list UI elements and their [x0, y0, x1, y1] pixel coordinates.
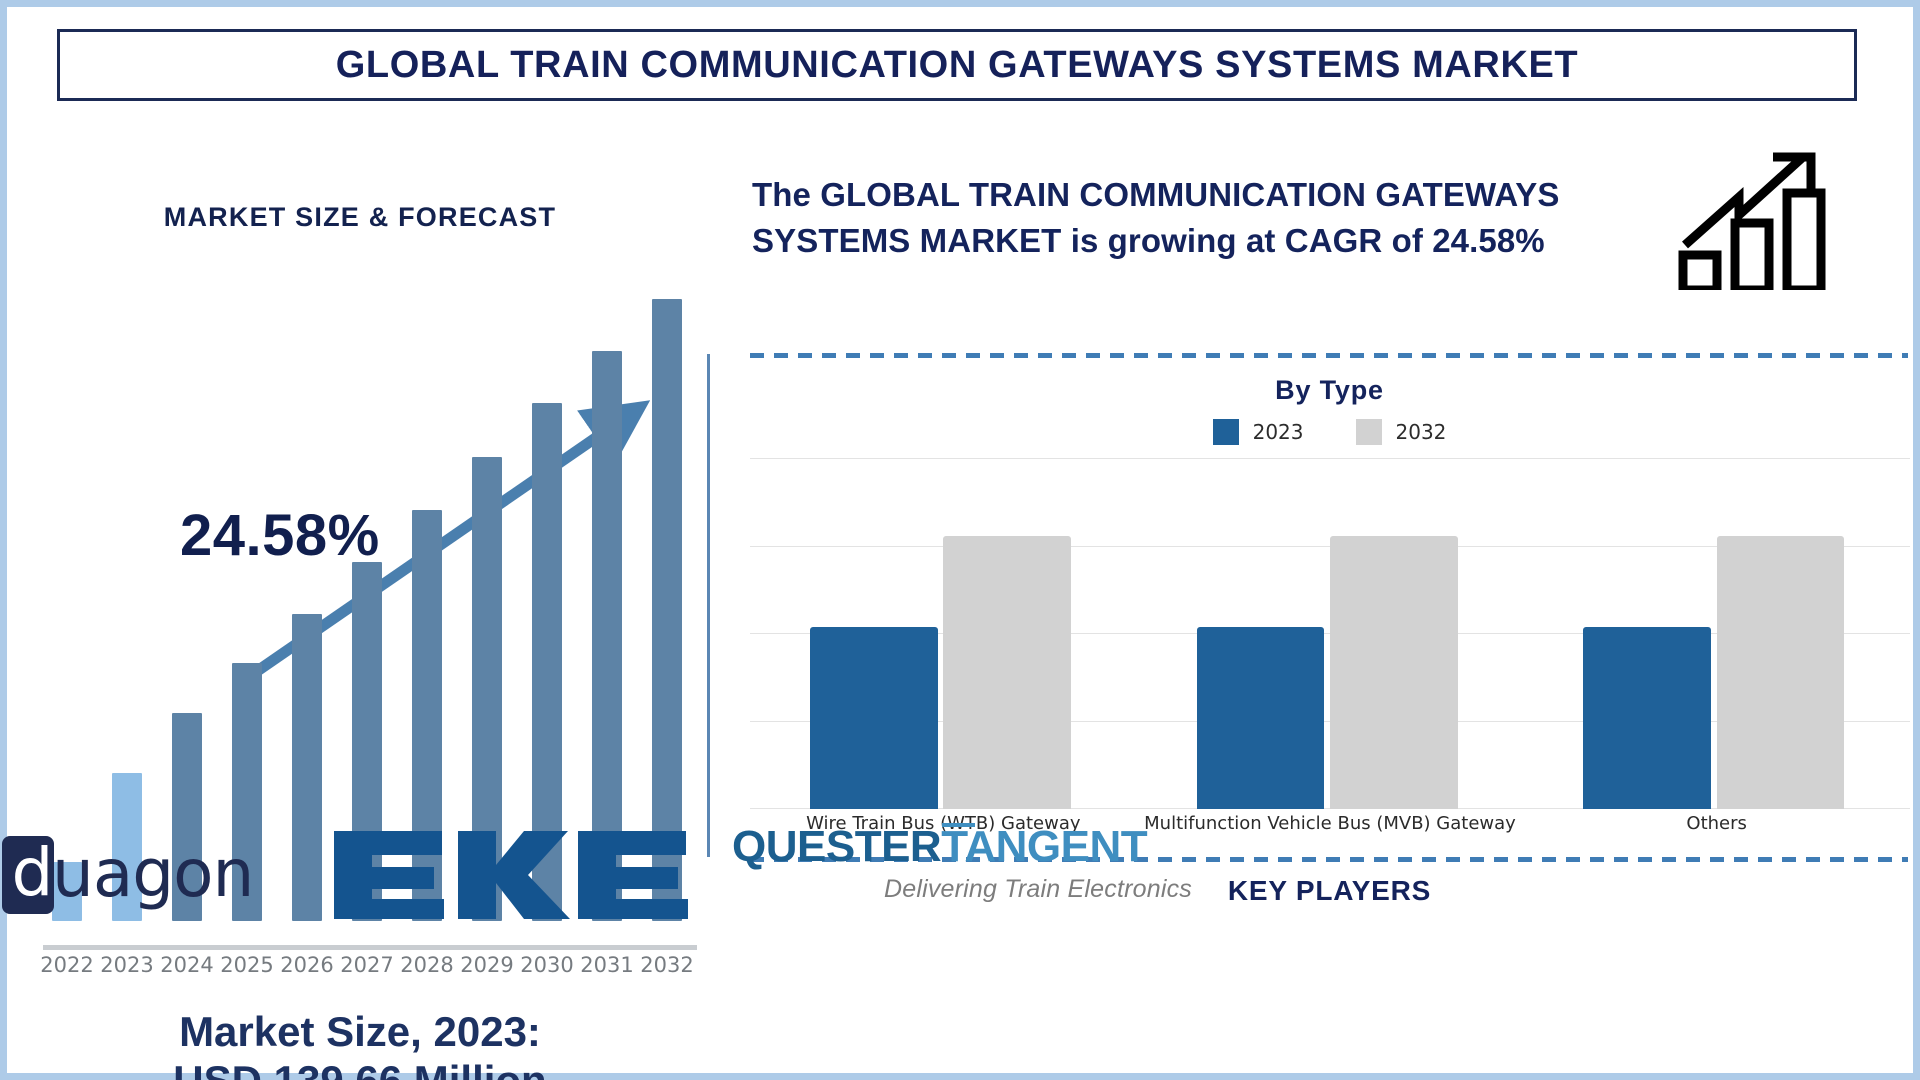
duagon-wordmark: uagon: [52, 841, 253, 907]
left-chart-year-axis: 2022202320242025202620272028202920302031…: [37, 951, 697, 977]
left-chart-year-label: 2027: [337, 953, 397, 977]
left-chart-year-label: 2032: [637, 953, 697, 977]
legend-swatch-2023: [1213, 419, 1239, 445]
left-chart-year-label: 2023: [97, 953, 157, 977]
legend-swatch-2032: [1356, 419, 1382, 445]
left-chart-year-label: 2028: [397, 953, 457, 977]
page-title: GLOBAL TRAIN COMMUNICATION GATEWAYS SYST…: [336, 44, 1579, 87]
left-chart-year-label: 2031: [577, 953, 637, 977]
cagr-statement: The GLOBAL TRAIN COMMUNICATION GATEWAYS …: [752, 172, 1662, 263]
by-type-legend: 2023 2032: [742, 419, 1917, 445]
quester-tangent-wordmark: QUESTERTANGENT: [732, 825, 1192, 869]
key-players-logos: d uagon QUESTERTANGENT Delivering Train …: [0, 807, 1182, 942]
logo-quester-tangent: QUESTERTANGENT Delivering Train Electron…: [732, 825, 1192, 930]
legend-label-2023: 2023: [1253, 420, 1304, 444]
quester-tangent-tagline: Delivering Train Electronics: [732, 875, 1192, 904]
duagon-letter-d: d: [12, 840, 53, 906]
divider-dashed-top: [750, 353, 1908, 358]
main-title-box: GLOBAL TRAIN COMMUNICATION GATEWAYS SYST…: [57, 29, 1857, 101]
duagon-mark: d: [2, 836, 54, 914]
tangent-word: TANGENT: [941, 822, 1147, 871]
left-chart-year-label: 2030: [517, 953, 577, 977]
left-chart-year-label: 2024: [157, 953, 217, 977]
left-chart-baseline: [43, 945, 697, 950]
by-type-bar: [943, 536, 1071, 809]
left-chart-year-label: 2025: [217, 953, 277, 977]
by-type-bar: [810, 627, 938, 809]
quester-word: QUESTER: [732, 822, 941, 871]
legend-item: 2023: [1213, 419, 1304, 445]
legend-label-2032: 2032: [1396, 420, 1447, 444]
logo-duagon: d uagon: [2, 827, 302, 922]
left-chart-year-label: 2026: [277, 953, 337, 977]
market-size-line2: USD 139.66 Million: [70, 1056, 650, 1080]
infographic-page: GLOBAL TRAIN COMMUNICATION GATEWAYS SYST…: [0, 0, 1920, 1080]
by-type-bar: [1330, 536, 1458, 809]
growth-arrow-bars-icon: [1677, 145, 1837, 290]
left-chart-year-label: 2022: [37, 953, 97, 977]
by-type-category-label: Multifunction Vehicle Bus (MVB) Gateway: [1137, 813, 1524, 834]
by-type-gridline: [750, 458, 1910, 459]
by-type-title: By Type: [742, 375, 1917, 406]
panel-divider: [707, 354, 710, 857]
by-type-bar: [1197, 627, 1325, 809]
by-type-plot: [750, 459, 1910, 809]
logo-eke: [332, 829, 692, 921]
by-type-bar-chart: Wire Train Bus (WTB) GatewayMultifunctio…: [750, 459, 1910, 849]
market-size-value: Market Size, 2023: USD 139.66 Million: [70, 1007, 650, 1080]
by-type-bar: [1717, 536, 1845, 809]
market-size-forecast-heading: MARKET SIZE & FORECAST: [15, 202, 705, 233]
left-chart-year-label: 2029: [457, 953, 517, 977]
legend-item: 2032: [1356, 419, 1447, 445]
market-size-line1: Market Size, 2023:: [70, 1007, 650, 1056]
by-type-bar: [1583, 627, 1711, 809]
by-type-category-label: Others: [1523, 813, 1910, 834]
